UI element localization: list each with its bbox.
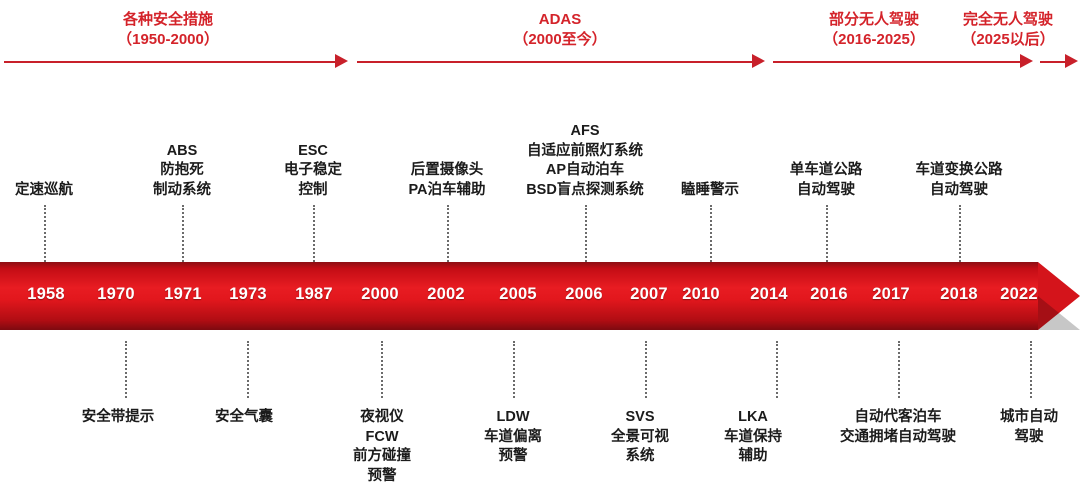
event-label-top: 车道变换公路自动驾驶 bbox=[916, 161, 1003, 200]
phase-arrow-head-icon-4 bbox=[1065, 54, 1078, 68]
event-label-line: 制动系统 bbox=[153, 181, 211, 201]
event-label-top: 定速巡航 bbox=[15, 181, 73, 201]
event-label-line: 城市自动 bbox=[1000, 408, 1058, 428]
year-label: 1987 bbox=[295, 285, 333, 304]
event-label-line: 交通拥堵自动驾驶 bbox=[840, 428, 956, 448]
event-label-line: BSD盲点探测系统 bbox=[526, 181, 644, 201]
event-label-line: 预警 bbox=[353, 467, 411, 487]
connector-dotted-line bbox=[513, 341, 515, 398]
event-label-line: 控制 bbox=[284, 181, 342, 201]
event-label-line: 自动驾驶 bbox=[790, 181, 863, 201]
event-label-line: 单车道公路 bbox=[790, 161, 863, 181]
event-label-line: 全景可视 bbox=[611, 428, 669, 448]
timeline-infographic: 各种安全措施（1950-2000）ADAS（2000至今）部分无人驾驶（2016… bbox=[0, 0, 1080, 493]
event-label-line: ABS bbox=[153, 142, 211, 162]
connector-dotted-line bbox=[776, 341, 778, 398]
phase-name: 各种安全措施 bbox=[0, 10, 368, 30]
year-label: 2016 bbox=[810, 285, 848, 304]
connector-dotted-line bbox=[959, 205, 961, 262]
connector-dotted-line bbox=[447, 205, 449, 262]
event-label-line: 驾驶 bbox=[1000, 428, 1058, 448]
event-label-line: SVS bbox=[611, 408, 669, 428]
connector-dotted-line bbox=[826, 205, 828, 262]
phase-arrow-line-3 bbox=[773, 61, 1021, 63]
event-label-line: 瞌睡警示 bbox=[681, 181, 739, 201]
year-label: 2006 bbox=[565, 285, 603, 304]
event-label-top: 后置摄像头PA泊车辅助 bbox=[408, 161, 485, 200]
connector-dotted-line bbox=[645, 341, 647, 398]
event-label-line: AFS bbox=[526, 122, 644, 142]
phase-label-1: 各种安全措施（1950-2000） bbox=[0, 10, 368, 50]
connector-dotted-line bbox=[125, 341, 127, 398]
connector-dotted-line bbox=[710, 205, 712, 262]
phase-arrow-line-1 bbox=[4, 61, 336, 63]
event-label-bottom: SVS全景可视系统 bbox=[611, 408, 669, 467]
year-label: 2018 bbox=[940, 285, 978, 304]
event-label-line: 车道变换公路 bbox=[916, 161, 1003, 181]
year-label: 2007 bbox=[630, 285, 668, 304]
phase-label-4: 完全无人驾驶（2025以后） bbox=[808, 10, 1080, 50]
year-label: 1971 bbox=[164, 285, 202, 304]
phase-period: （2025以后） bbox=[808, 30, 1080, 50]
connector-dotted-line bbox=[182, 205, 184, 262]
event-label-bottom: 夜视仪FCW前方碰撞预警 bbox=[353, 408, 411, 486]
connector-dotted-line bbox=[247, 341, 249, 398]
phase-arrow-line-2 bbox=[357, 61, 753, 63]
event-label-line: LDW bbox=[484, 408, 542, 428]
event-label-line: LKA bbox=[724, 408, 782, 428]
event-label-line: 前方碰撞 bbox=[353, 447, 411, 467]
event-label-line: 防抱死 bbox=[153, 161, 211, 181]
event-label-line: PA泊车辅助 bbox=[408, 181, 485, 201]
event-label-bottom: 安全带提示 bbox=[82, 408, 155, 428]
phase-arrow-head-icon-2 bbox=[752, 54, 765, 68]
phase-arrow-head-icon-1 bbox=[335, 54, 348, 68]
event-label-line: FCW bbox=[353, 428, 411, 448]
connector-dotted-line bbox=[898, 341, 900, 398]
event-label-line: 自适应前照灯系统 bbox=[526, 142, 644, 162]
event-label-line: 车道保持 bbox=[724, 428, 782, 448]
year-label: 1973 bbox=[229, 285, 267, 304]
event-label-line: 电子稳定 bbox=[284, 161, 342, 181]
year-label: 1970 bbox=[97, 285, 135, 304]
event-label-bottom: 自动代客泊车交通拥堵自动驾驶 bbox=[840, 408, 956, 447]
year-label: 2002 bbox=[427, 285, 465, 304]
year-label: 1958 bbox=[27, 285, 65, 304]
event-label-bottom: LDW车道偏离预警 bbox=[484, 408, 542, 467]
event-label-line: 夜视仪 bbox=[353, 408, 411, 428]
event-label-line: AP自动泊车 bbox=[526, 161, 644, 181]
year-label: 2010 bbox=[682, 285, 720, 304]
year-label: 2000 bbox=[361, 285, 399, 304]
event-label-line: 车道偏离 bbox=[484, 428, 542, 448]
year-label: 2005 bbox=[499, 285, 537, 304]
event-label-top: 瞌睡警示 bbox=[681, 181, 739, 201]
event-label-line: 定速巡航 bbox=[15, 181, 73, 201]
event-label-line: 辅助 bbox=[724, 447, 782, 467]
timeline-bar bbox=[0, 262, 1080, 330]
event-label-line: 自动驾驶 bbox=[916, 181, 1003, 201]
event-label-line: 后置摄像头 bbox=[408, 161, 485, 181]
connector-dotted-line bbox=[1030, 341, 1032, 398]
event-label-line: 预警 bbox=[484, 447, 542, 467]
connector-dotted-line bbox=[585, 205, 587, 262]
connector-dotted-line bbox=[44, 205, 46, 262]
event-label-line: 安全气囊 bbox=[215, 408, 273, 428]
year-label: 2022 bbox=[1000, 285, 1038, 304]
event-label-bottom: 安全气囊 bbox=[215, 408, 273, 428]
phase-name: 完全无人驾驶 bbox=[808, 10, 1080, 30]
connector-dotted-line bbox=[313, 205, 315, 262]
event-label-top: ABS防抱死制动系统 bbox=[153, 142, 211, 201]
year-label: 2017 bbox=[872, 285, 910, 304]
phase-arrow-line-4 bbox=[1040, 61, 1066, 63]
connector-dotted-line bbox=[381, 341, 383, 398]
event-label-top: ESC电子稳定控制 bbox=[284, 142, 342, 201]
event-label-bottom: LKA车道保持辅助 bbox=[724, 408, 782, 467]
event-label-line: ESC bbox=[284, 142, 342, 162]
event-label-line: 系统 bbox=[611, 447, 669, 467]
timeline-arrow-tip-shade bbox=[1038, 296, 1080, 330]
event-label-line: 安全带提示 bbox=[82, 408, 155, 428]
event-label-top: AFS自适应前照灯系统AP自动泊车BSD盲点探测系统 bbox=[526, 122, 644, 200]
event-label-top: 单车道公路自动驾驶 bbox=[790, 161, 863, 200]
phase-period: （1950-2000） bbox=[0, 30, 368, 50]
event-label-bottom: 城市自动驾驶 bbox=[1000, 408, 1058, 447]
phase-arrow-head-icon-3 bbox=[1020, 54, 1033, 68]
year-label: 2014 bbox=[750, 285, 788, 304]
event-label-line: 自动代客泊车 bbox=[840, 408, 956, 428]
